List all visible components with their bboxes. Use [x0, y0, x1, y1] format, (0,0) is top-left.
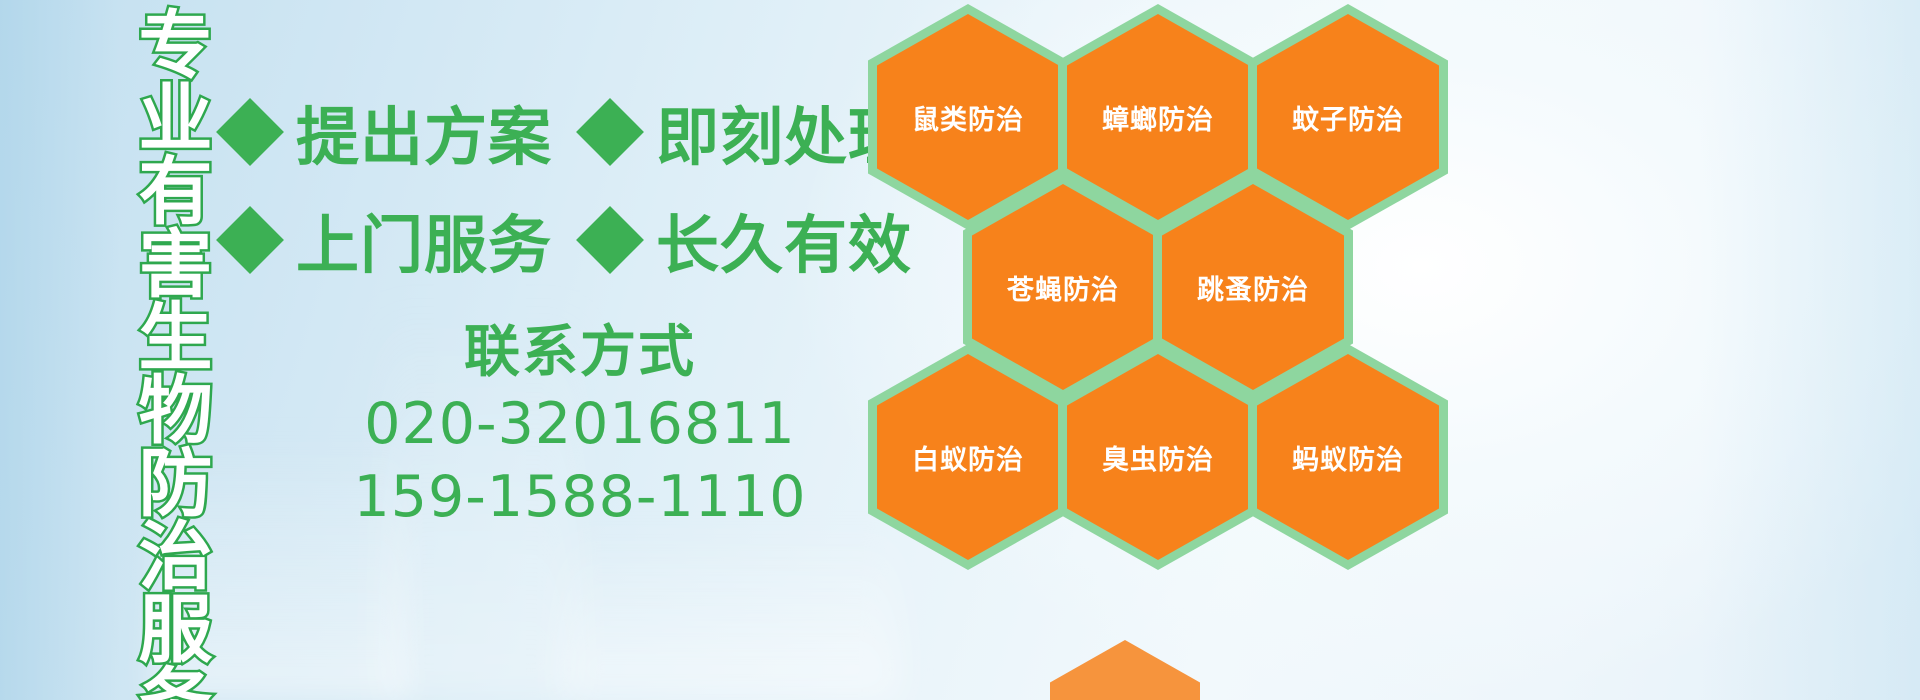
service-label: 蟑螂防治	[1102, 98, 1214, 137]
feature-item-label: 提出方案	[296, 87, 552, 178]
hexagon-inner: 蚂蚁防治	[1257, 354, 1439, 560]
contact-phone-mobile[interactable]: 159-1588-1110	[300, 461, 860, 534]
feature-list: 提出方案 即刻处理 上门服务 长久有效	[226, 78, 886, 294]
contact-phone-landline[interactable]: 020-32016811	[300, 388, 860, 461]
background-streak-bottom	[560, 520, 900, 700]
hexagon-inner: 白蚁防治	[877, 354, 1059, 560]
background-streak-right	[1700, 0, 1920, 700]
service-label: 白蚁防治	[912, 438, 1024, 477]
contact-block: 联系方式 020-32016811 159-1588-1110	[300, 318, 860, 534]
feature-row: 提出方案 即刻处理	[226, 78, 886, 186]
hexagon-inner: 蚊子防治	[1257, 14, 1439, 220]
hexagon-inner: 蟑螂防治	[1067, 14, 1249, 220]
diamond-icon	[576, 98, 644, 166]
service-hexagon-grid: 鼠类防治 蟑螂防治 蚊子防治 苍蝇防治 跳蚤防治 白蚁防治	[860, 0, 1480, 700]
service-label: 苍蝇防治	[1007, 268, 1119, 307]
diamond-icon	[576, 206, 644, 274]
pest-control-banner: 专业有害生物防治服务 提出方案 即刻处理 上门服务 长久有效 联系方式 020-…	[0, 0, 1920, 700]
hexagon-inner: 跳蚤防治	[1162, 184, 1344, 390]
background-streak-left	[0, 0, 120, 700]
hexagon-inner: 苍蝇防治	[972, 184, 1154, 390]
feature-item-label: 上门服务	[296, 195, 552, 286]
vertical-headline: 专业有害生物防治服务	[108, 6, 204, 700]
diamond-icon	[216, 206, 284, 274]
contact-title: 联系方式	[300, 318, 860, 388]
service-label: 跳蚤防治	[1197, 268, 1309, 307]
feature-row: 上门服务 长久有效	[226, 186, 886, 294]
diamond-icon	[216, 98, 284, 166]
service-label: 臭虫防治	[1102, 438, 1214, 477]
service-label: 蚊子防治	[1292, 98, 1404, 137]
hexagon-inner: 鼠类防治	[877, 14, 1059, 220]
service-label: 鼠类防治	[912, 98, 1024, 137]
service-label: 蚂蚁防治	[1292, 438, 1404, 477]
hexagon-inner: 臭虫防治	[1067, 354, 1249, 560]
